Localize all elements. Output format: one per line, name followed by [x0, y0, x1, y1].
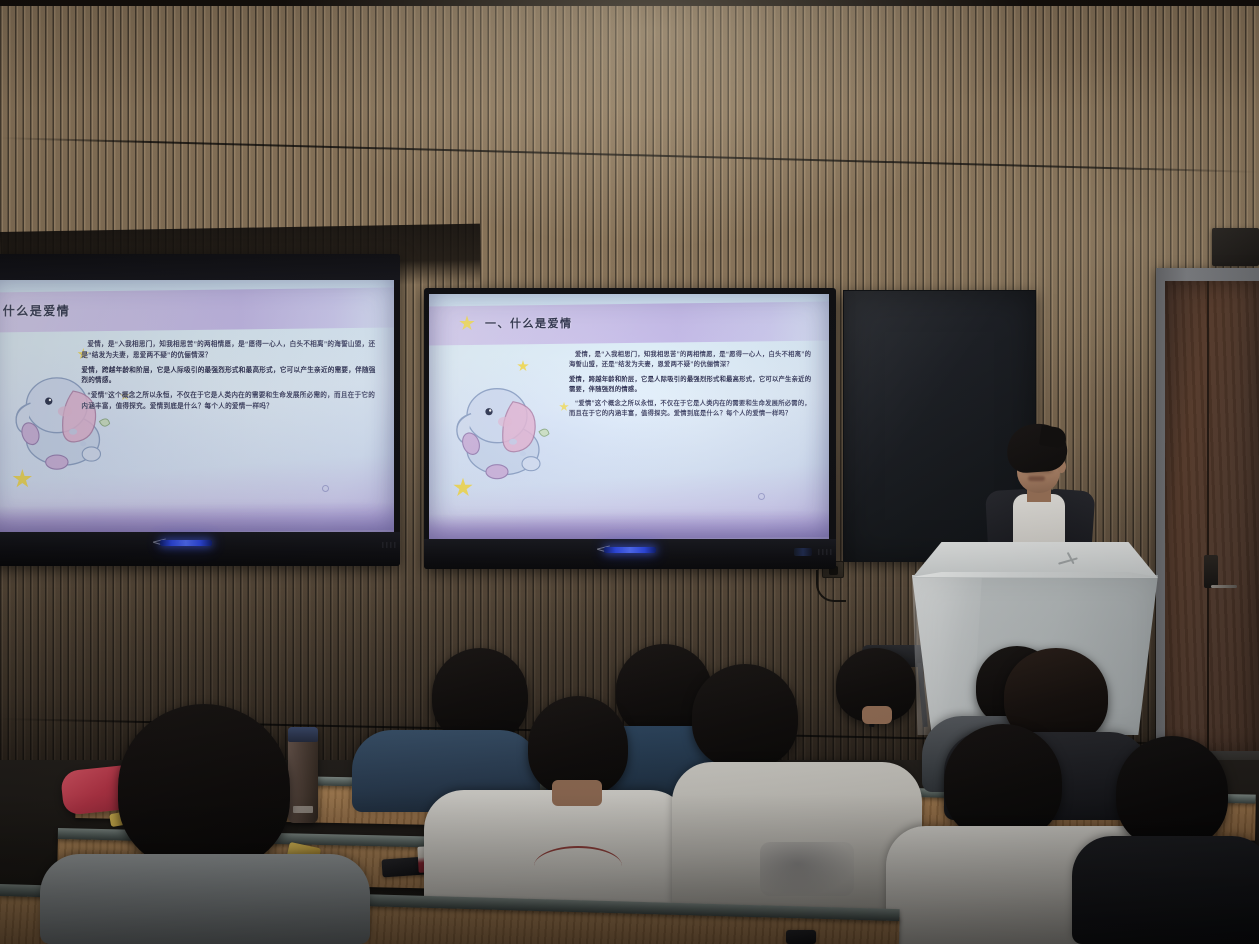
slide-paragraph-1: 爱情，是“入我相思门，知我相思苦”的两相情愿，是“愿得一心人，白头不相离”的海誓…: [569, 350, 813, 370]
slide-canvas-right: 一、什么是爱情: [429, 294, 829, 539]
door-leaves[interactable]: [1165, 281, 1259, 751]
power-led-left: [160, 540, 212, 546]
slide-paragraph-3: “爱情”这个概念之所以永恒，不仅在于它是人类内在的需要和生命发展所必需的，而且在…: [569, 399, 813, 419]
slide-canvas-left: 一、什么是爱情: [0, 280, 394, 532]
student-head: [692, 664, 798, 768]
bezel-keys-right[interactable]: [818, 549, 832, 555]
door-split-line: [1207, 281, 1209, 751]
student-torso: [1072, 836, 1259, 944]
lectern-highlight-facet: [912, 575, 982, 735]
lectern-front-edge: [912, 572, 1158, 577]
slide-title-left: 一、什么是爱情: [0, 291, 70, 329]
institution-emblem-icon: [1058, 554, 1078, 568]
slide-body-left: 爱情，是“入我相思门，知我相思苦”的两相情愿，是“愿得一心人，白头不相离”的海誓…: [81, 340, 381, 416]
student-head: [432, 648, 528, 742]
slide-title-right: 一、什么是爱情: [481, 305, 573, 342]
door-lock-plate[interactable]: [1204, 555, 1218, 588]
slide-bottom-band-right: [429, 510, 829, 539]
bezel-keys-left[interactable]: [382, 542, 396, 548]
student-torso: [40, 854, 370, 944]
left-display[interactable]: 一、什么是爱情: [0, 254, 400, 566]
slide-title-text: 一、什么是爱情: [485, 315, 573, 331]
slide-paragraph-2: 爱情，跨越年龄和阶层，它是人际吸引的最强烈形式和最高形式，它可以产生亲近的需要，…: [81, 366, 381, 386]
power-led-right: [604, 547, 656, 553]
presenter-hair: [1005, 422, 1068, 474]
shirt-graphic: [760, 842, 854, 896]
smartphone[interactable]: [786, 930, 816, 944]
slide-body-right: 爱情，是“入我相思门，知我相思苦”的两相情愿，是“愿得一心人，白头不相离”的海誓…: [569, 350, 813, 424]
slide-bottom-band-left: [0, 502, 394, 532]
entrance-door[interactable]: [1156, 268, 1259, 771]
left-display-bezel: SEEWO: [0, 532, 400, 566]
bottle-cap: [288, 727, 318, 742]
slide-marker-dot: [322, 485, 329, 492]
right-display[interactable]: 一、什么是爱情: [424, 288, 836, 569]
slide-paragraph-2: 爱情，跨越年龄和阶层，它是人际吸引的最强烈形式和最高形式，它可以产生亲近的需要，…: [569, 375, 813, 395]
door-handle-lever[interactable]: [1211, 585, 1237, 588]
slide-title-text: 一、什么是爱情: [0, 302, 70, 319]
lecture-hall-photo: 一、什么是爱情: [0, 0, 1259, 944]
elephant-mascot: [441, 368, 561, 495]
left-display-top-bezel: [0, 254, 400, 280]
thermos-bottle: [288, 727, 318, 823]
wall-speaker: [1212, 228, 1259, 266]
slide-paragraph-1: 爱情，是“入我相思门，知我相思苦”的两相情愿，是“愿得一心人，白头不相离”的海誓…: [81, 340, 381, 360]
right-display-panel[interactable]: 一、什么是爱情: [429, 294, 829, 539]
bottle-label: [293, 806, 313, 813]
student-head: [944, 724, 1062, 840]
slide-marker-dot: [758, 493, 765, 500]
student-head: [1116, 736, 1228, 848]
ir-sensor: [794, 548, 812, 556]
student-head: [118, 704, 290, 870]
right-display-bezel: SEEWO: [424, 539, 836, 569]
left-display-panel[interactable]: 一、什么是爱情: [0, 280, 394, 532]
ceiling-edge: [0, 0, 1259, 6]
slide-paragraph-3: “爱情”这个概念之所以永恒，不仅在于它是人类内在的需要和生命发展所必需的，而且在…: [81, 391, 381, 411]
student-neck: [862, 706, 892, 724]
student-neck: [552, 780, 602, 806]
